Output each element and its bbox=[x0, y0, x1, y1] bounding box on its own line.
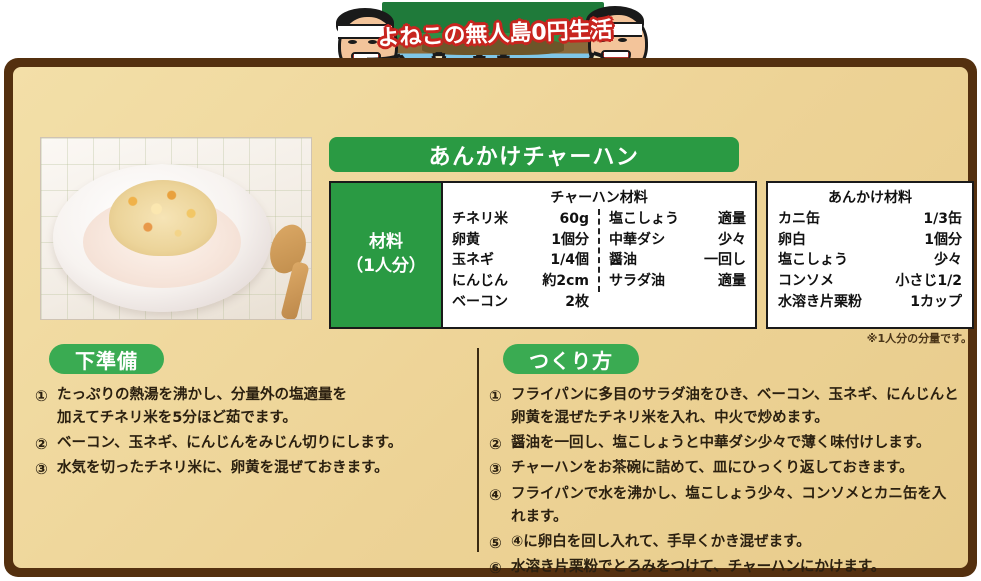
step-text: ベーコン、玉ネギ、にんじんをみじん切りにします。 bbox=[57, 432, 465, 455]
ingredient-name: サラダ油 bbox=[609, 271, 665, 292]
table-row: カニ缶 1/3缶 bbox=[778, 209, 962, 230]
step-text: たっぷりの熱湯を沸かし、分量外の塩適量を 加えてチネリ米を5分ほど茹でます。 bbox=[57, 384, 465, 431]
ingredient-name: 塩こしょう bbox=[609, 209, 679, 230]
step-text: ④に卵白を回し入れて、手早くかき混ぜます。 bbox=[511, 531, 959, 554]
step-text: フライパンに多目のサラダ油をひき、ベーコン、玉ネギ、にんじんと 卵黄を混ぜたチネ… bbox=[511, 384, 959, 431]
table-row: サラダ油 適量 bbox=[609, 271, 746, 292]
step-text: 水気を切ったチネリ米に、卵黄を混ぜておきます。 bbox=[57, 457, 465, 480]
ingredient-qty: 適量 bbox=[718, 271, 746, 292]
ingredients-label-line2: （1人分） bbox=[346, 255, 426, 279]
step-text: チャーハンをお茶碗に詰めて、皿にひっくり返しておきます。 bbox=[511, 457, 959, 480]
table-row: にんじん 約2cm bbox=[452, 271, 589, 292]
list-item: ⑤ ④に卵白を回し入れて、手早くかき混ぜます。 bbox=[489, 531, 959, 555]
prep-steps: ① たっぷりの熱湯を沸かし、分量外の塩適量を 加えてチネリ米を5分ほど茹でます。… bbox=[35, 384, 465, 482]
recipe-title: あんかけチャーハン bbox=[329, 137, 739, 172]
table-row: 醤油 一回し bbox=[609, 250, 746, 271]
ingredient-name: 塩こしょう bbox=[778, 250, 848, 271]
table-row: コンソメ 小さじ1/2 bbox=[778, 271, 962, 292]
step-number: ① bbox=[35, 384, 57, 408]
recipe-card: あんかけチャーハン 材料 （1人分） チャーハン材料 チネリ米 bbox=[4, 58, 977, 577]
ingredient-qty: 約2cm bbox=[542, 271, 589, 292]
ingredients-chahan-block: 材料 （1人分） チャーハン材料 チネリ米 60g bbox=[329, 181, 757, 329]
table-row: 中華ダシ 少々 bbox=[609, 230, 746, 251]
ingredient-name: ベーコン bbox=[452, 292, 508, 313]
ingredient-name: 中華ダシ bbox=[609, 230, 665, 251]
photo-fried-rice bbox=[109, 180, 217, 256]
table-row: チネリ米 60g bbox=[452, 209, 589, 230]
list-item: ② 醤油を一回し、塩こしょうと中華ダシ少々で薄く味付けします。 bbox=[489, 432, 959, 456]
list-item: ① フライパンに多目のサラダ油をひき、ベーコン、玉ネギ、にんじんと 卵黄を混ぜた… bbox=[489, 384, 959, 431]
list-item: ③ チャーハンをお茶碗に詰めて、皿にひっくり返しておきます。 bbox=[489, 457, 959, 481]
step-text: 水溶き片栗粉でとろみをつけて、チャーハンにかけます。 bbox=[511, 556, 959, 579]
list-item: ① たっぷりの熱湯を沸かし、分量外の塩適量を 加えてチネリ米を5分ほど茹でます。 bbox=[35, 384, 465, 431]
ingredient-qty: 1個分 bbox=[551, 230, 589, 251]
method-steps: ① フライパンに多目のサラダ油をひき、ベーコン、玉ネギ、にんじんと 卵黄を混ぜた… bbox=[489, 384, 959, 580]
ingredient-qty: 一回し bbox=[704, 250, 746, 271]
ingredient-qty: 2枚 bbox=[565, 292, 589, 313]
dish-photo bbox=[40, 137, 312, 320]
ingredient-qty: 1カップ bbox=[910, 292, 962, 313]
step-number: ⑤ bbox=[489, 531, 511, 555]
chahan-heading: チャーハン材料 bbox=[443, 187, 755, 207]
table-row: 卵黄 1個分 bbox=[452, 230, 589, 251]
prep-badge: 下準備 bbox=[49, 344, 164, 374]
step-text: 醤油を一回し、塩こしょうと中華ダシ少々で薄く味付けします。 bbox=[511, 432, 959, 455]
step-number: ② bbox=[489, 432, 511, 456]
ingredient-name: コンソメ bbox=[778, 271, 834, 292]
method-section: つくり方 ① フライパンに多目のサラダ油をひき、ベーコン、玉ネギ、にんじんと 卵… bbox=[489, 344, 959, 581]
chahan-body: チャーハン材料 チネリ米 60g 卵黄 1個分 bbox=[443, 183, 755, 327]
ingredient-name: 玉ネギ bbox=[452, 250, 494, 271]
ingredient-qty: 1/4個 bbox=[550, 250, 589, 271]
ingredient-qty: 少々 bbox=[718, 230, 746, 251]
table-row: 塩こしょう 適量 bbox=[609, 209, 746, 230]
step-text: フライパンで水を沸かし、塩こしょう少々、コンソメとカニ缶を入れます。 bbox=[511, 483, 959, 530]
list-item: ④ フライパンで水を沸かし、塩こしょう少々、コンソメとカニ缶を入れます。 bbox=[489, 483, 959, 530]
ankake-body: あんかけ材料 カニ缶 1/3缶 卵白 1個分 塩こしょう 少々 bbox=[768, 183, 972, 327]
list-item: ② ベーコン、玉ネギ、にんじんをみじん切りにします。 bbox=[35, 432, 465, 456]
ingredients-ankake-block: あんかけ材料 カニ缶 1/3缶 卵白 1個分 塩こしょう 少々 bbox=[766, 181, 974, 329]
table-row: 玉ネギ 1/4個 bbox=[452, 250, 589, 271]
ingredient-name: 卵黄 bbox=[452, 230, 480, 251]
ingredient-qty: 1個分 bbox=[924, 230, 962, 251]
step-number: ⑥ bbox=[489, 556, 511, 580]
table-row: ベーコン 2枚 bbox=[452, 292, 589, 313]
list-item: ⑥ 水溶き片栗粉でとろみをつけて、チャーハンにかけます。 bbox=[489, 556, 959, 580]
step-number: ④ bbox=[489, 483, 511, 507]
ingredient-qty: 60g bbox=[559, 209, 589, 230]
recipe-card-inner: あんかけチャーハン 材料 （1人分） チャーハン材料 チネリ米 bbox=[13, 67, 968, 568]
ingredient-qty: 小さじ1/2 bbox=[895, 271, 962, 292]
ingredient-name: 醤油 bbox=[609, 250, 637, 271]
instructions-area: 下準備 ① たっぷりの熱湯を沸かし、分量外の塩適量を 加えてチネリ米を5分ほど茹… bbox=[13, 344, 968, 564]
method-badge: つくり方 bbox=[503, 344, 639, 374]
recipe-card-page: よねこの無人島0円生活 チネリータ あんかけチャーハン 材料 bbox=[0, 0, 981, 581]
ingredients-label-cell: 材料 （1人分） bbox=[331, 183, 443, 327]
ingredient-name: にんじん bbox=[452, 271, 508, 292]
ingredients-label-line1: 材料 bbox=[369, 231, 403, 255]
ingredient-name: 卵白 bbox=[778, 230, 806, 251]
chahan-column-2: 塩こしょう 適量 中華ダシ 少々 醤油 一回し bbox=[598, 209, 755, 292]
table-row: 塩こしょう 少々 bbox=[778, 250, 962, 271]
ingredient-qty: 適量 bbox=[718, 209, 746, 230]
step-number: ③ bbox=[489, 457, 511, 481]
step-number: ② bbox=[35, 432, 57, 456]
ingredient-name: チネリ米 bbox=[452, 209, 508, 230]
chahan-column-1: チネリ米 60g 卵黄 1個分 玉ネギ 1/4個 bbox=[443, 209, 598, 313]
prep-section: 下準備 ① たっぷりの熱湯を沸かし、分量外の塩適量を 加えてチネリ米を5分ほど茹… bbox=[35, 344, 465, 483]
ingredient-qty: 少々 bbox=[934, 250, 962, 271]
ingredient-qty: 1/3缶 bbox=[923, 209, 962, 230]
step-number: ③ bbox=[35, 457, 57, 481]
ingredient-name: 水溶き片栗粉 bbox=[778, 292, 862, 313]
ingredient-name: カニ缶 bbox=[778, 209, 820, 230]
section-divider bbox=[477, 348, 479, 552]
ankake-heading: あんかけ材料 bbox=[778, 187, 962, 207]
chahan-columns: チネリ米 60g 卵黄 1個分 玉ネギ 1/4個 bbox=[443, 209, 755, 327]
table-row: 卵白 1個分 bbox=[778, 230, 962, 251]
list-item: ③ 水気を切ったチネリ米に、卵黄を混ぜておきます。 bbox=[35, 457, 465, 481]
ingredients-table: 材料 （1人分） チャーハン材料 チネリ米 60g bbox=[329, 181, 974, 329]
table-row: 水溶き片栗粉 1カップ bbox=[778, 292, 962, 313]
step-number: ① bbox=[489, 384, 511, 408]
